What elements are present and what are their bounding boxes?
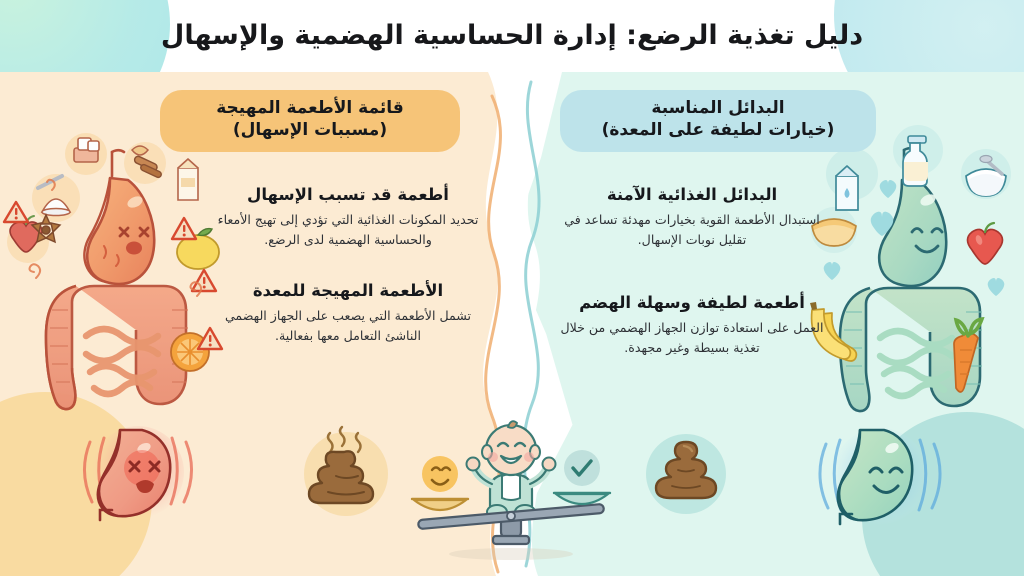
- left-entry-1-title: أطعمة قد تسبب الإسهال: [212, 184, 484, 205]
- right-panel-header-pill: البدائل المناسبة (خيارات لطيفة على المعد…: [560, 90, 876, 152]
- left-entry-2-body: تشمل الأطعمة التي يصعب على الجهاز الهضمي…: [212, 306, 484, 345]
- right-entry-1: البدائل الغذائية الآمنة استبدال الأطعمة …: [556, 184, 828, 250]
- left-header-line1: قائمة الأطعمة المهيجة: [216, 98, 404, 118]
- left-entry-2: الأطعمة المهيجة للمعدة تشمل الأطعمة التي…: [212, 280, 484, 346]
- right-header-line2: (خيارات لطيفة على المعدة): [582, 119, 854, 141]
- left-entry-1-body: تحديد المكونات الغذائية التي تؤدي إلى ته…: [212, 210, 484, 249]
- left-panel-header-pill: قائمة الأطعمة المهيجة (مسببات الإسهال): [160, 90, 460, 152]
- right-panel-text-column: البدائل الغذائية الآمنة استبدال الأطعمة …: [556, 184, 828, 379]
- panels-container: قائمة الأطعمة المهيجة (مسببات الإسهال) ا…: [0, 72, 1024, 576]
- title-band: دليل تغذية الرضع: إدارة الحساسية الهضمية…: [0, 0, 1024, 72]
- right-entry-2-title: أطعمة لطيفة وسهلة الهضم: [556, 292, 828, 313]
- infographic-canvas: دليل تغذية الرضع: إدارة الحساسية الهضمية…: [0, 0, 1024, 576]
- right-entry-2-body: العمل على استعادة توازن الجهاز الهضمي من…: [556, 318, 828, 357]
- right-entry-1-title: البدائل الغذائية الآمنة: [556, 184, 828, 205]
- page-title: دليل تغذية الرضع: إدارة الحساسية الهضمية…: [161, 19, 863, 53]
- right-header-line1: البدائل المناسبة: [651, 98, 784, 118]
- right-entry-1-body: استبدال الأطعمة القوية بخيارات مهدئة تسا…: [556, 210, 828, 249]
- left-header-line2: (مسببات الإسهال): [182, 119, 438, 141]
- decorative-blob-bottom-left: [0, 392, 152, 576]
- right-entry-2: أطعمة لطيفة وسهلة الهضم العمل على استعاد…: [556, 292, 828, 358]
- left-panel-text-column: أطعمة قد تسبب الإسهال تحديد المكونات الغ…: [212, 184, 484, 367]
- left-entry-2-title: الأطعمة المهيجة للمعدة: [212, 280, 484, 301]
- left-entry-1: أطعمة قد تسبب الإسهال تحديد المكونات الغ…: [212, 184, 484, 250]
- decorative-blob-bottom-right: [862, 412, 1024, 576]
